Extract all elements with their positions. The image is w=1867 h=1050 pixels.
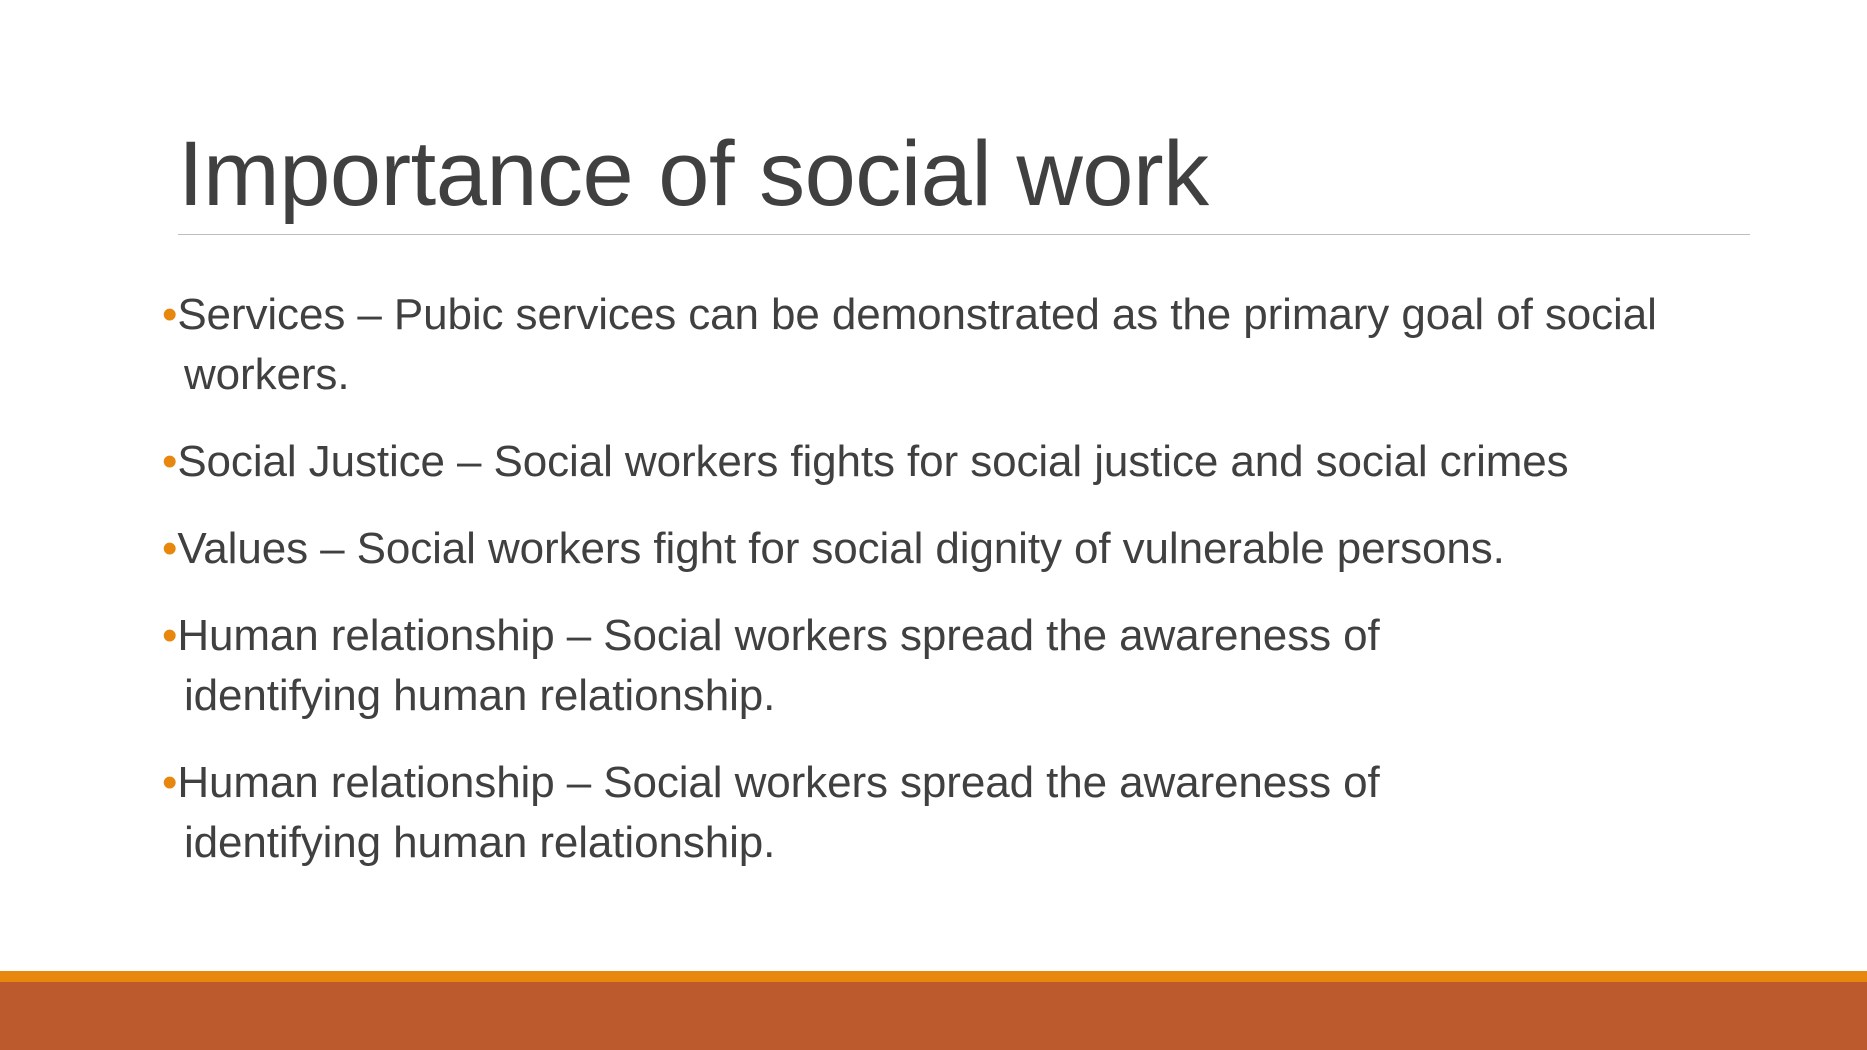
bullet-label: Values – Social workers fight for social… [177, 524, 1504, 573]
slide-canvas: Importance of social work •Services – Pu… [0, 0, 1867, 1050]
list-item: •Human relationship – Social workers spr… [162, 606, 1742, 726]
bullet-paragraph: •Services – Pubic services can be demons… [162, 285, 1742, 405]
title-block: Importance of social work [178, 128, 1750, 235]
bullet-label: Social Justice – Social workers fights f… [177, 437, 1568, 486]
bullet-label: Human relationship – Social workers spre… [177, 758, 1379, 867]
list-item: •Social Justice – Social workers fights … [162, 432, 1742, 492]
bullet-label: Services – Pubic services can be demonst… [177, 290, 1656, 399]
bullet-paragraph: •Human relationship – Social workers spr… [162, 753, 1544, 873]
bullet-paragraph: •Human relationship – Social workers spr… [162, 606, 1544, 726]
bullet-dot-icon: • [162, 290, 177, 339]
title-underline-rule [178, 234, 1750, 235]
bullet-list: •Services – Pubic services can be demons… [162, 285, 1742, 873]
page-title: Importance of social work [178, 128, 1750, 234]
bullet-dot-icon: • [162, 758, 177, 807]
list-item: •Services – Pubic services can be demons… [162, 285, 1742, 405]
bullet-paragraph: •Values – Social workers fight for socia… [162, 519, 1742, 579]
bullet-dot-icon: • [162, 437, 177, 486]
bullet-dot-icon: • [162, 611, 177, 660]
accent-band-light [0, 971, 1867, 982]
accent-band-dark [0, 982, 1867, 1050]
bullet-label: Human relationship – Social workers spre… [177, 611, 1379, 720]
list-item: •Human relationship – Social workers spr… [162, 753, 1742, 873]
bullet-paragraph: •Social Justice – Social workers fights … [162, 432, 1584, 492]
list-item: •Values – Social workers fight for socia… [162, 519, 1742, 579]
bullet-dot-icon: • [162, 524, 177, 573]
